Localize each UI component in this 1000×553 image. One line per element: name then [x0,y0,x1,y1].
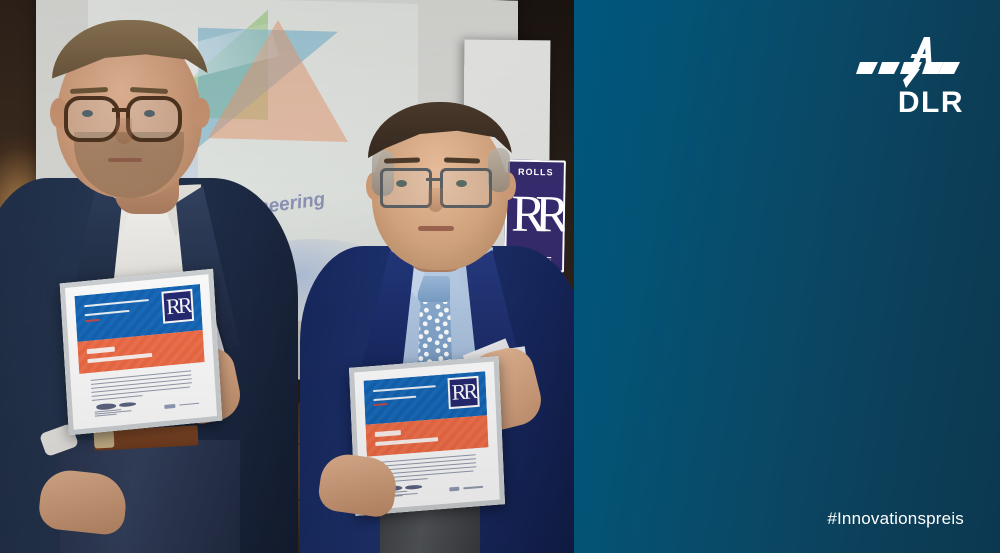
certificate-left: RR [60,269,223,436]
dlr-wordmark: DLR [898,88,964,118]
dlr-swoosh-icon [856,36,964,88]
certificate-right-rr-badge: RR [447,375,479,409]
person-right-glasses-left-lens [380,168,432,208]
person-right-glasses-bridge [426,178,440,181]
person-right-tie-knot [418,276,450,302]
person-left-glasses-bridge [112,108,128,112]
certificate-left-frame: RR [60,269,223,436]
event-photograph: RR Engineering Cat INN CONGRATU Carsten … [0,0,574,553]
person-left-nose [116,118,132,144]
social-media-card: RR Engineering Cat INN CONGRATU Carsten … [0,0,1000,553]
person-left-glasses-left-lens [64,96,120,142]
text-panel: DLR We were awarded the 2024 Innovation … [574,0,1000,553]
person-left-glasses-right-lens [126,96,182,142]
person-left-mouth [108,158,142,162]
person-left-ear-right [192,98,210,128]
hashtag-label: #Innovationspreis [827,509,964,529]
person-right-glasses-right-lens [440,168,492,208]
rolls-royce-logo-top: ROLLS [506,166,566,177]
dlr-logo: DLR [856,36,964,114]
certificate-left-rr-badge: RR [161,288,195,323]
person-right-nose [428,188,443,212]
person-right-mouth [418,226,454,231]
certificate-left-content: RR [75,284,208,420]
